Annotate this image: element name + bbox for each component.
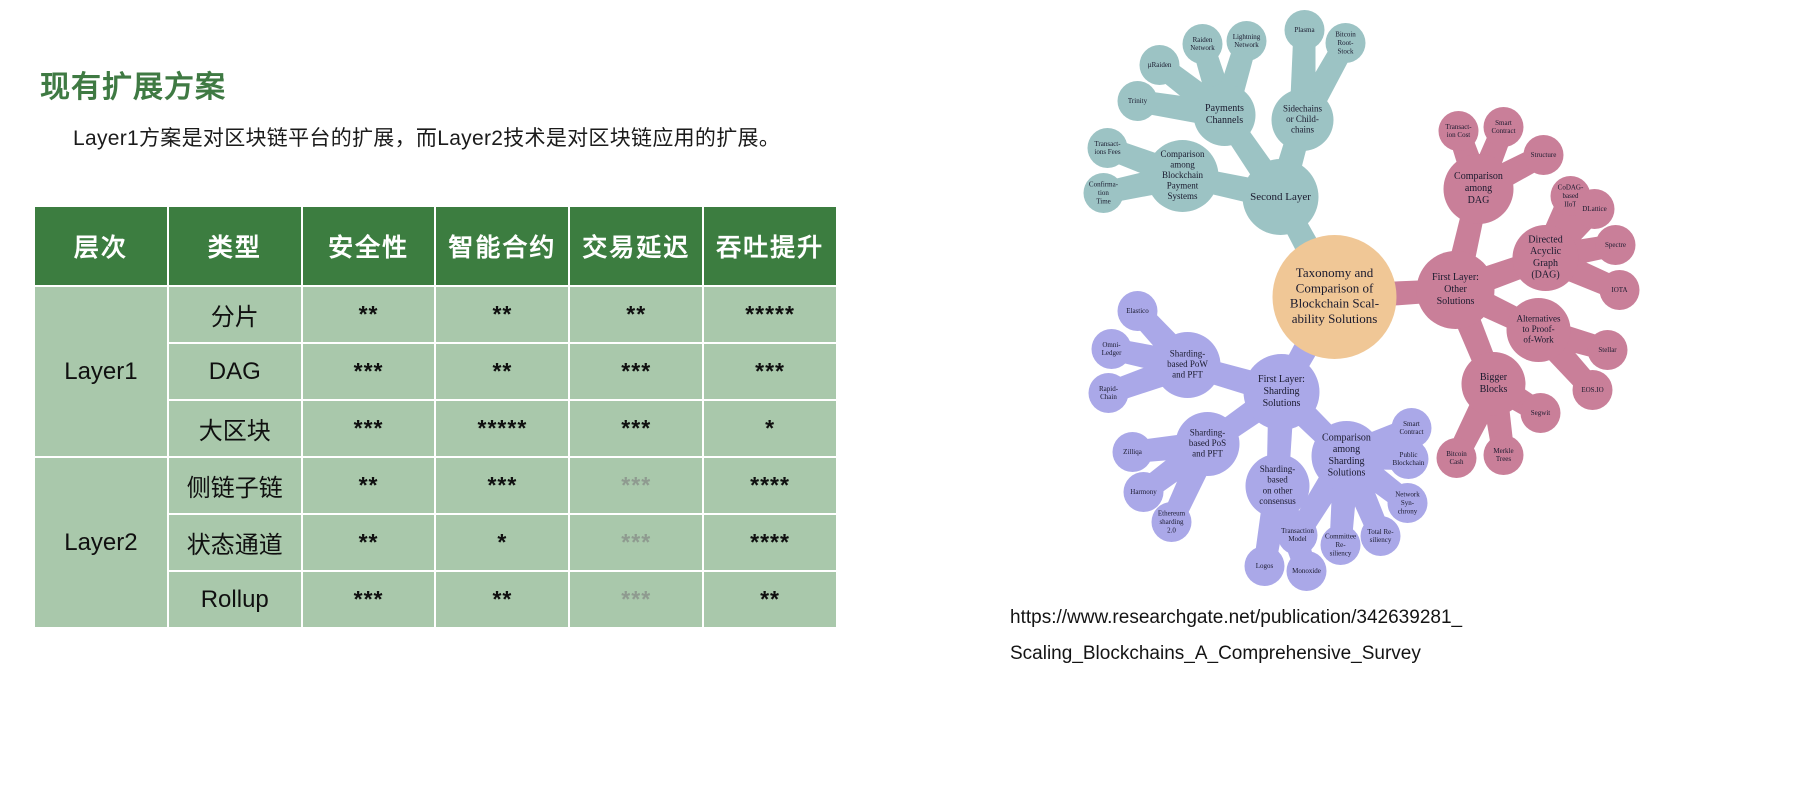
mindmap-node-label: DLattice: [1582, 205, 1607, 213]
mindmap-node-label: Monoxide: [1292, 567, 1321, 575]
mindmap-node-ethereum-sharding-2[interactable]: Ethereumsharding2.0: [1152, 502, 1192, 542]
mindmap-node-center[interactable]: Taxonomy andComparison ofBlockchain Scal…: [1273, 235, 1397, 359]
mindmap-node-structure[interactable]: Structure: [1524, 135, 1564, 175]
page-title: 现有扩展方案: [40, 62, 226, 106]
mindmap-node-label: Logos: [1256, 562, 1274, 570]
mindmap-node-first-layer-sharding[interactable]: First Layer:ShardingSolutions: [1244, 354, 1320, 430]
mindmap-node-label: ComparisonamongShardingSolutions: [1322, 433, 1371, 479]
mindmap-node-dlattice[interactable]: DLattice: [1575, 189, 1615, 229]
mindmap-node-merkle-trees[interactable]: MerkleTrees: [1484, 435, 1524, 475]
mindmap-node-label: Stellar: [1598, 346, 1617, 354]
mindmap-node-bitcoin-cash[interactable]: BitcoinCash: [1437, 438, 1477, 478]
security-rating-cell: ***: [303, 401, 435, 456]
mindmap-node-label: EOS.IO: [1581, 386, 1603, 394]
table-body: Layer1分片***********DAG***********大区块****…: [35, 287, 836, 627]
mindmap-node-lightning-network[interactable]: LightningNetwork: [1227, 21, 1267, 61]
mindmap-node-alternatives-proof-of-work[interactable]: Alternativesto Proof-of-Work: [1507, 298, 1571, 362]
smart-contract-rating-cell: **: [436, 344, 568, 399]
throughput-rating-cell: *: [704, 401, 836, 456]
throughput-rating-cell: ***: [704, 344, 836, 399]
mindmap-node-label: BitcoinRoot-Stock: [1335, 30, 1356, 55]
mindmap-node-label: Structure: [1531, 151, 1557, 159]
type-cell: 分片: [169, 287, 301, 342]
throughput-rating-cell: ****: [704, 515, 836, 570]
mindmap-node-label: Elastico: [1126, 307, 1149, 315]
mindmap-node-bigger-blocks[interactable]: BiggerBlocks: [1462, 352, 1526, 416]
mindmap-node-sharding-other-consensus[interactable]: Sharding-basedon otherconsensus: [1246, 454, 1310, 518]
right-figure-pane: Taxonomy andComparison ofBlockchain Scal…: [955, 0, 1794, 792]
mindmap-node-second-layer[interactable]: Second Layer: [1243, 159, 1319, 235]
column-header-1: 类型: [169, 207, 301, 285]
latency-rating-cell: ***: [570, 458, 702, 513]
mindmap-node-plasma[interactable]: Plasma: [1285, 10, 1325, 50]
smart-contract-rating-cell: **: [436, 287, 568, 342]
mindmap-node-zilliqa[interactable]: Zilliqa: [1113, 432, 1153, 472]
mindmap-node-label: BiggerBlocks: [1480, 372, 1508, 395]
type-cell: DAG: [169, 344, 301, 399]
mindmap-node-confirmation-time[interactable]: Confirma-tionTime: [1084, 173, 1124, 213]
source-url-line-1: https://www.researchgate.net/publication…: [1010, 600, 1630, 636]
mindmap-node-label: Zilliqa: [1123, 448, 1143, 456]
mindmap-node-label: First Layer:ShardingSolutions: [1258, 374, 1305, 409]
mindmap-node-harmony[interactable]: Harmony: [1124, 472, 1164, 512]
mindmap-node-elastico[interactable]: Elastico: [1118, 291, 1158, 331]
source-url-caption[interactable]: https://www.researchgate.net/publication…: [1010, 600, 1630, 672]
mindmap-node-monoxide[interactable]: Monoxide: [1287, 551, 1327, 591]
mindmap-node-omni-ledger[interactable]: Omni-Ledger: [1092, 329, 1132, 369]
mindmap-node-trinity[interactable]: Trinity: [1118, 81, 1158, 121]
security-rating-cell: ***: [303, 344, 435, 399]
column-header-2: 安全性: [303, 207, 435, 285]
column-header-0: 层次: [35, 207, 167, 285]
mindmap-node-total-resiliency[interactable]: Total Re-siliency: [1361, 516, 1401, 556]
mindmap-node-committee-resiliency[interactable]: CommitteeRe-siliency: [1321, 525, 1361, 565]
source-url-line-2: Scaling_Blockchains_A_Comprehensive_Surv…: [1010, 636, 1630, 672]
mindmap-node-label: Sharding-based PoWand PFT: [1167, 348, 1208, 379]
mindmap-node-sidechains-childchains[interactable]: Sidechainsor Child-chains: [1272, 89, 1334, 151]
mindmap-node-label: LightningNetwork: [1233, 32, 1261, 48]
mindmap-node-uraiden[interactable]: µRaiden: [1140, 45, 1180, 85]
mindmap-node-bitcoin-rootstock[interactable]: BitcoinRoot-Stock: [1326, 23, 1366, 63]
slide-subtitle: Layer1方案是对区块链平台的扩展，而Layer2技术是对区块链应用的扩展。: [73, 122, 780, 152]
mindmap-node-rapid-chain[interactable]: Rapid-Chain: [1089, 373, 1129, 413]
mindmap-node-label: Omni-Ledger: [1102, 340, 1122, 356]
mindmap-node-comparison-dag[interactable]: ComparisonamongDAG: [1444, 154, 1514, 224]
type-cell: 侧链子链: [169, 458, 301, 513]
left-content-pane: 现有扩展方案 Layer1方案是对区块链平台的扩展，而Layer2技术是对区块链…: [0, 0, 960, 792]
mindmap-node-label: Segwit: [1531, 409, 1551, 417]
mindmap-node-transaction-model[interactable]: TransactionModel: [1278, 515, 1318, 555]
table-header: 层次类型安全性智能合约交易延迟吞吐提升: [35, 207, 836, 285]
latency-rating-cell: ***: [570, 515, 702, 570]
mindmap-node-label: µRaiden: [1148, 61, 1172, 69]
mindmap-node-label: Taxonomy andComparison ofBlockchain Scal…: [1290, 265, 1379, 326]
mindmap-node-label: Transact-ion Cost: [1445, 122, 1472, 138]
mindmap-node-sharding-pow-pft[interactable]: Sharding-based PoWand PFT: [1155, 332, 1221, 398]
mindmap-node-comparison-sharding[interactable]: ComparisonamongShardingSolutions: [1312, 421, 1382, 491]
scaling-comparison-table: 层次类型安全性智能合约交易延迟吞吐提升 Layer1分片***********D…: [33, 205, 838, 629]
type-cell: 状态通道: [169, 515, 301, 570]
mindmap-node-label: PaymentsChannels: [1205, 103, 1244, 126]
smart-contract-rating-cell: ***: [436, 458, 568, 513]
mindmap-node-directed-acyclic-graph[interactable]: DirectedAcyclicGraph(DAG): [1513, 225, 1579, 291]
mindmap-node-label: Sharding-basedon otherconsensus: [1259, 464, 1296, 506]
mindmap-node-iota[interactable]: IOTA: [1600, 270, 1640, 310]
mindmap-node-label: Second Layer: [1250, 191, 1311, 203]
security-rating-cell: **: [303, 287, 435, 342]
type-cell: 大区块: [169, 401, 301, 456]
mindmap-node-label: MerkleTrees: [1493, 446, 1513, 462]
latency-rating-cell: ***: [570, 572, 702, 627]
table-header-row: 层次类型安全性智能合约交易延迟吞吐提升: [35, 207, 836, 285]
mindmap-node-network-synchrony[interactable]: NetworkSyn-chrony: [1388, 483, 1428, 523]
mindmap-node-label: Total Re-siliency: [1367, 527, 1394, 543]
smart-contract-rating-cell: *: [436, 515, 568, 570]
mindmap-node-first-layer-other[interactable]: First Layer:OtherSolutions: [1417, 251, 1495, 329]
mindmap-node-label: Harmony: [1130, 488, 1157, 496]
security-rating-cell: **: [303, 515, 435, 570]
smart-contract-rating-cell: **: [436, 572, 568, 627]
layer-group-cell: Layer1: [35, 287, 167, 456]
mindmap-node-raiden-network[interactable]: RaidenNetwork: [1183, 24, 1223, 64]
throughput-rating-cell: ****: [704, 458, 836, 513]
mindmap-node-label: Transact-ions Fees: [1094, 139, 1121, 155]
mindmap-node-stellar[interactable]: Stellar: [1588, 330, 1628, 370]
slide-root: 现有扩展方案 Layer1方案是对区块链平台的扩展，而Layer2技术是对区块链…: [0, 0, 1794, 792]
mindmap-node-spectre[interactable]: Spectre: [1596, 225, 1636, 265]
table-row: Layer2侧链子链************: [35, 458, 836, 513]
type-cell: Rollup: [169, 572, 301, 627]
mindmap-node-transaction-fees[interactable]: Transact-ions Fees: [1088, 128, 1128, 168]
layer-group-cell: Layer2: [35, 458, 167, 627]
mindmap-node-eos-io[interactable]: EOS.IO: [1573, 370, 1613, 410]
mindmap-node-sharding-pos-pft[interactable]: Sharding-based PoSand PFT: [1176, 412, 1240, 476]
mindmap-node-label: Rapid-Chain: [1099, 384, 1119, 400]
blockchain-scalability-mindmap: Taxonomy andComparison ofBlockchain Scal…: [955, 0, 1794, 620]
mindmap-node-label: DirectedAcyclicGraph(DAG): [1528, 235, 1562, 281]
mindmap-node-label: Spectre: [1605, 241, 1626, 249]
mindmap-node-segwit[interactable]: Segwit: [1521, 393, 1561, 433]
table-row: Layer1分片***********: [35, 287, 836, 342]
mindmap-node-label: RaidenNetwork: [1190, 35, 1215, 51]
latency-rating-cell: ***: [570, 401, 702, 456]
column-header-4: 交易延迟: [570, 207, 702, 285]
mindmap-node-label: Plasma: [1294, 26, 1315, 34]
smart-contract-rating-cell: *****: [436, 401, 568, 456]
mindmap-node-transaction-cost[interactable]: Transact-ion Cost: [1439, 111, 1479, 151]
mindmap-node-logos[interactable]: Logos: [1245, 546, 1285, 586]
mindmap-node-label: Sharding-based PoSand PFT: [1189, 427, 1226, 458]
throughput-rating-cell: **: [704, 572, 836, 627]
column-header-3: 智能合约: [436, 207, 568, 285]
mindmap-node-smart-contract-purple[interactable]: SmartContract: [1392, 408, 1432, 448]
mindmap-node-payments-channels[interactable]: PaymentsChannels: [1194, 84, 1256, 146]
latency-rating-cell: **: [570, 287, 702, 342]
security-rating-cell: ***: [303, 572, 435, 627]
mindmap-node-label: Trinity: [1128, 97, 1148, 105]
mindmap-node-label: IOTA: [1611, 286, 1627, 294]
mindmap-node-smart-contract-pink[interactable]: SmartContract: [1484, 107, 1524, 147]
mindmap-node-comparison-payment-systems[interactable]: ComparisonamongBlockchainPaymentSystems: [1147, 140, 1219, 212]
throughput-rating-cell: *****: [704, 287, 836, 342]
column-header-5: 吞吐提升: [704, 207, 836, 285]
latency-rating-cell: ***: [570, 344, 702, 399]
security-rating-cell: **: [303, 458, 435, 513]
